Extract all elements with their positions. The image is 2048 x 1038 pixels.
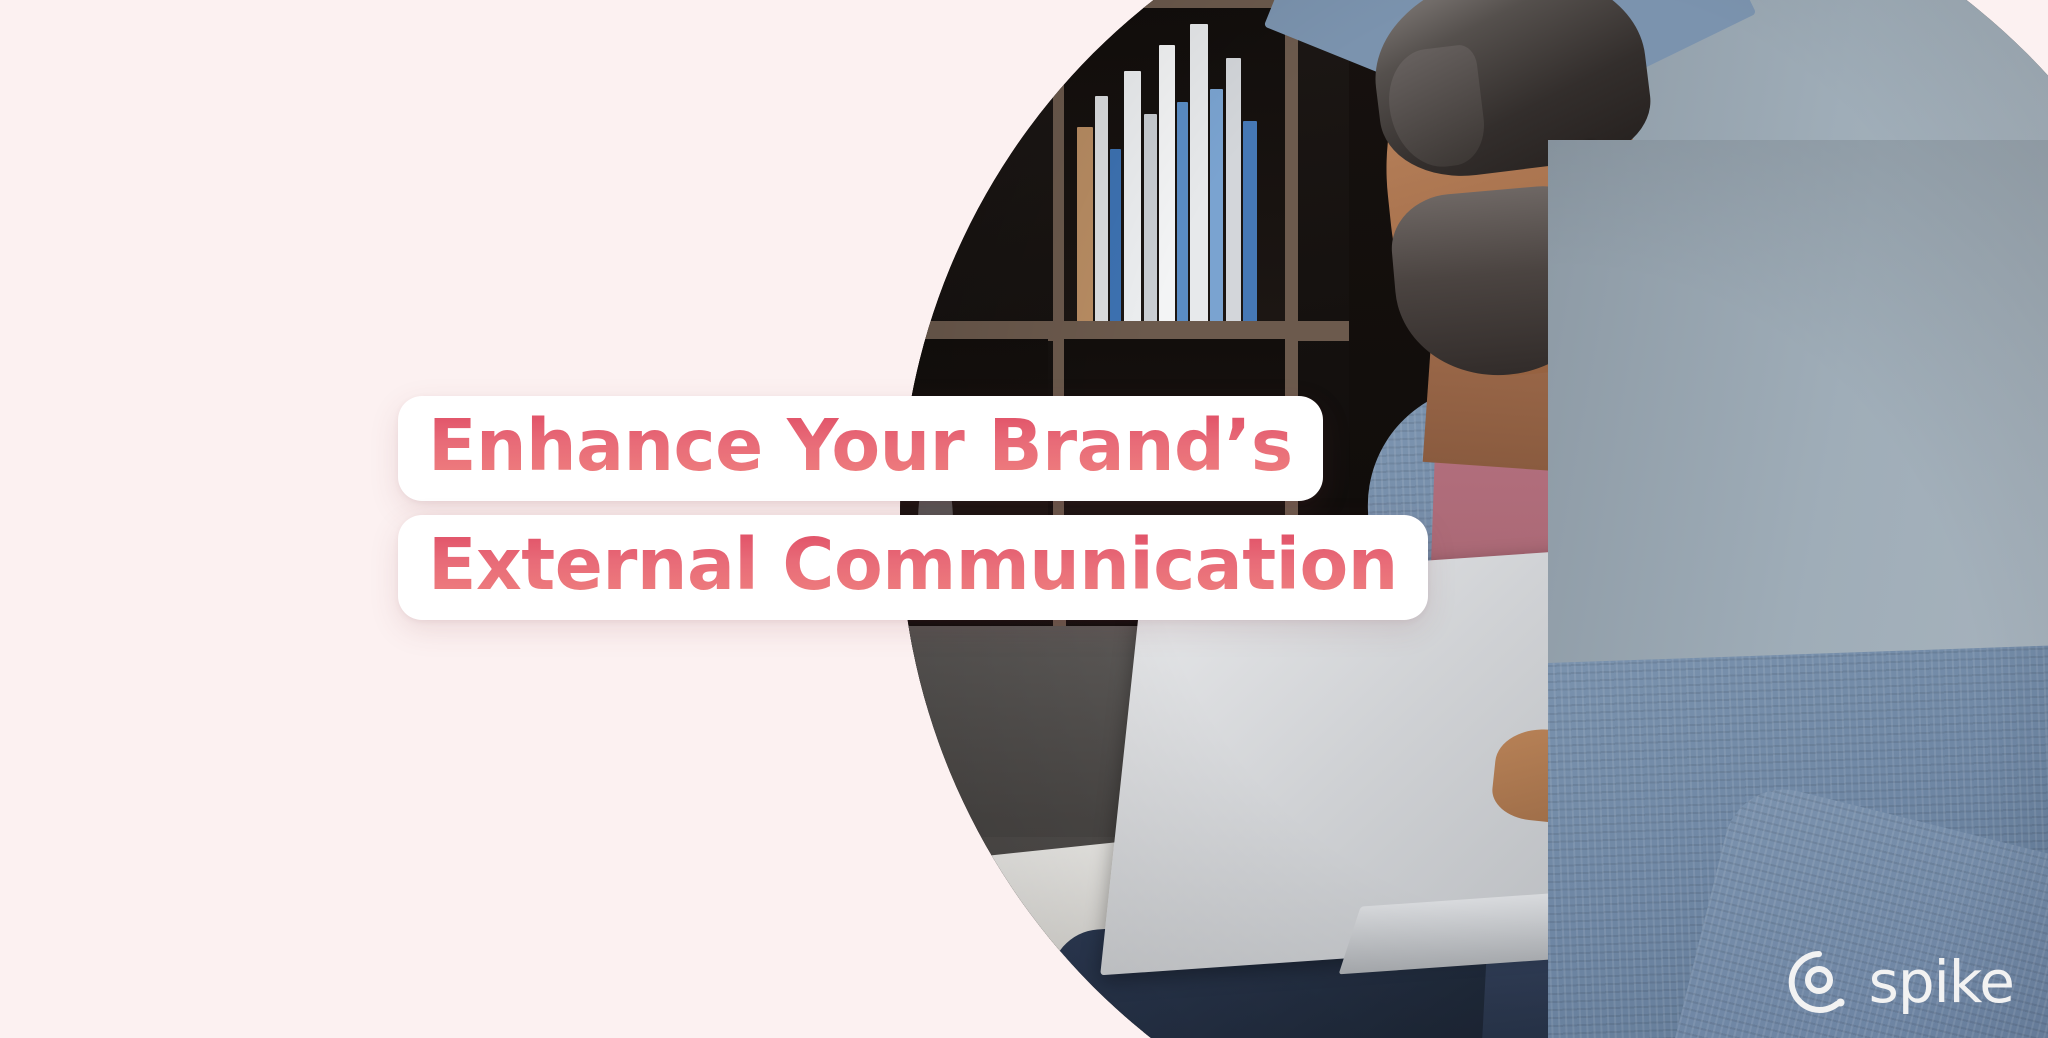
hero-photo-scene-bleed <box>1548 140 2048 1038</box>
spike-wordmark: spike <box>1869 953 2014 1011</box>
headline-line2-text: External Communication <box>428 529 1398 600</box>
headline-line1-text: Enhance Your Brand’s <box>428 410 1293 481</box>
spike-logo[interactable]: spike <box>1787 950 2014 1014</box>
spike-at-circle-icon <box>1787 950 1851 1014</box>
headline-box-line2: External Communication <box>398 515 1428 620</box>
headline-box-line1: Enhance Your Brand’s <box>398 396 1323 501</box>
headline: Enhance Your Brand’s External Communicat… <box>398 396 1428 620</box>
promo-banner: Enhance Your Brand’s External Communicat… <box>0 0 2048 1038</box>
photo-vignette <box>1548 140 2048 1038</box>
hero-photo-bleed <box>1548 0 2048 1038</box>
